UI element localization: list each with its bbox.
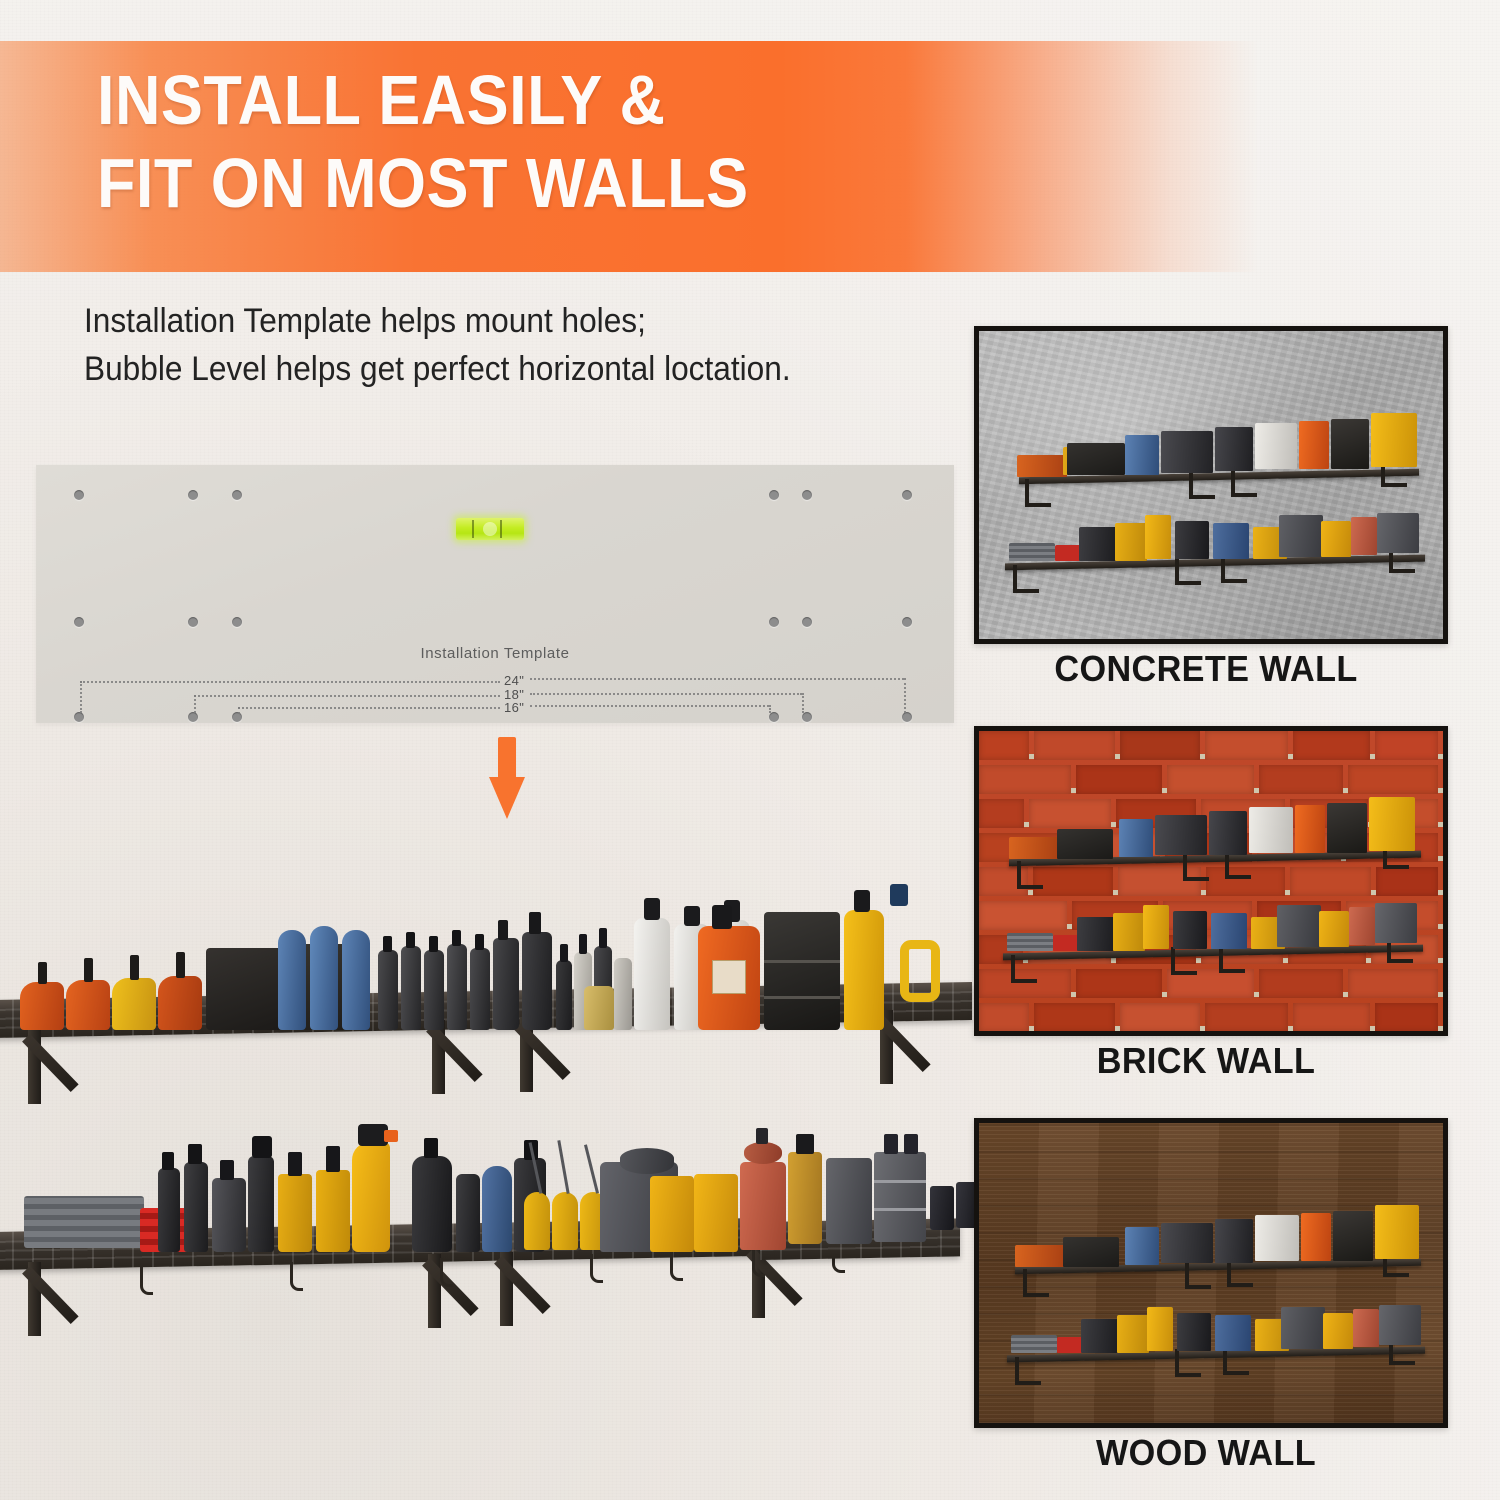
product-storage-bin bbox=[206, 948, 284, 1030]
mini-shelf-bracket bbox=[1189, 471, 1215, 499]
dimension-label-16: 16" bbox=[504, 700, 524, 715]
mini-product bbox=[1009, 837, 1059, 859]
product-black-pot bbox=[930, 1186, 954, 1230]
down-arrow-icon bbox=[489, 737, 525, 819]
mini-product bbox=[1057, 1337, 1083, 1353]
shelf-bracket bbox=[28, 1030, 86, 1104]
product-orange-bottle bbox=[66, 980, 110, 1030]
product-black-jug bbox=[412, 1156, 452, 1252]
dimension-tick-16-left bbox=[238, 707, 240, 714]
mini-product bbox=[1371, 413, 1417, 467]
bottle-cap bbox=[130, 955, 139, 980]
pump-head bbox=[498, 920, 508, 940]
mini-shelf-bracket bbox=[1017, 861, 1043, 889]
mount-hole bbox=[74, 490, 84, 500]
mini-shelf-bracket bbox=[1225, 851, 1251, 879]
mount-hole bbox=[769, 490, 779, 500]
mini-product bbox=[1255, 1215, 1299, 1261]
mini-product bbox=[1113, 913, 1145, 951]
mini-product bbox=[1351, 517, 1377, 555]
concrete-wall-label: CONCRETE WALL bbox=[986, 648, 1427, 690]
mini-product bbox=[1375, 903, 1417, 943]
mini-product bbox=[1295, 805, 1325, 853]
pump-head bbox=[529, 912, 541, 934]
mini-product bbox=[1117, 1315, 1149, 1353]
mini-product bbox=[1119, 819, 1153, 857]
shelf-bracket bbox=[28, 1262, 86, 1336]
dimension-tick-18-left bbox=[194, 695, 196, 713]
mount-hole bbox=[769, 617, 779, 627]
case-divider bbox=[764, 996, 840, 999]
mini-product bbox=[1175, 521, 1209, 559]
mini-shelf-bracket bbox=[1023, 1269, 1049, 1297]
brick-row bbox=[979, 969, 1443, 998]
mini-product bbox=[1319, 911, 1349, 947]
mini-product bbox=[1349, 907, 1375, 945]
mini-shelf-bracket bbox=[1223, 1347, 1249, 1375]
bottle-cap bbox=[84, 958, 93, 982]
crate-handle bbox=[884, 1134, 898, 1154]
product-red-bucket bbox=[740, 1162, 786, 1250]
subtitle-block: Installation Template helps mount holes;… bbox=[84, 297, 930, 393]
installation-template-label: Installation Template bbox=[36, 645, 954, 662]
header-banner: INSTALL EASILY & FIT ON MOST WALLS bbox=[0, 41, 1258, 272]
product-yellow-oiler-can bbox=[524, 1192, 550, 1250]
shelf-hook[interactable] bbox=[290, 1262, 303, 1291]
mini-product bbox=[1277, 905, 1321, 947]
header-text-block: INSTALL EASILY & FIT ON MOST WALLS bbox=[97, 59, 1258, 225]
bottle-cap bbox=[644, 898, 660, 920]
dimension-line-16-right bbox=[530, 705, 769, 707]
mini-shelf-bracket bbox=[1025, 479, 1051, 507]
bottle-cap bbox=[288, 1152, 302, 1176]
mini-product bbox=[1209, 811, 1247, 855]
mini-product bbox=[1369, 797, 1415, 851]
mini-shelf-bracket bbox=[1219, 945, 1245, 973]
mini-product bbox=[1177, 1313, 1211, 1351]
mount-hole bbox=[902, 617, 912, 627]
jug-cap bbox=[890, 884, 908, 906]
dimension-line-24-right bbox=[530, 678, 904, 680]
shelf-hook[interactable] bbox=[440, 1258, 453, 1287]
product-dark-bottle bbox=[447, 944, 467, 1030]
mount-hole bbox=[802, 490, 812, 500]
product-dark-bottle bbox=[424, 950, 444, 1030]
product-tool-case bbox=[764, 912, 840, 1030]
mini-product bbox=[1067, 443, 1125, 475]
mini-product bbox=[1143, 905, 1169, 949]
mini-product bbox=[1055, 545, 1081, 561]
bottle-cap bbox=[452, 930, 461, 946]
product-white-bottle bbox=[634, 918, 670, 1030]
mount-hole bbox=[74, 712, 84, 722]
jug-cap bbox=[424, 1138, 438, 1158]
mini-product bbox=[1063, 1237, 1119, 1267]
bottle-cap bbox=[684, 906, 700, 926]
mini-product bbox=[1015, 1245, 1065, 1267]
product-dark-pump-bottle bbox=[522, 932, 552, 1030]
crate-bar bbox=[874, 1208, 926, 1211]
product-yellow-fluid-bottle bbox=[278, 1174, 312, 1252]
product-grey-pot bbox=[620, 1148, 674, 1174]
product-yellow-bucket bbox=[694, 1174, 738, 1252]
mount-hole bbox=[74, 617, 84, 627]
product-dark-spray-bottle bbox=[158, 1168, 180, 1252]
product-orange-bottle bbox=[158, 976, 202, 1030]
mini-product bbox=[1081, 1319, 1121, 1353]
mount-hole bbox=[188, 490, 198, 500]
brick-row bbox=[979, 867, 1443, 896]
dimension-line-18 bbox=[194, 695, 500, 697]
jug-cap bbox=[854, 890, 870, 912]
mini-product bbox=[1009, 543, 1055, 561]
headline-line-1: INSTALL EASILY & bbox=[97, 59, 1142, 142]
shelf-bracket bbox=[500, 1252, 558, 1326]
product-yellow-oiler-can bbox=[552, 1192, 578, 1250]
dimension-tick-18-right bbox=[802, 693, 804, 713]
product-grey-bin bbox=[826, 1158, 872, 1244]
bottle-cap bbox=[383, 936, 392, 952]
mini-product bbox=[1377, 513, 1419, 553]
shelf-hook[interactable] bbox=[140, 1266, 153, 1295]
mini-product bbox=[1057, 829, 1113, 859]
jug-handle bbox=[900, 940, 940, 1002]
mini-product bbox=[1155, 815, 1207, 855]
mini-product bbox=[1321, 521, 1351, 557]
bottle-cap bbox=[326, 1146, 340, 1172]
product-yellow-bottle bbox=[112, 978, 156, 1030]
mini-shelf-bracket bbox=[1175, 1349, 1201, 1377]
oiler-spout bbox=[557, 1140, 569, 1194]
trigger-head bbox=[188, 1144, 202, 1164]
mount-hole bbox=[188, 712, 198, 722]
headline-line-2: FIT ON MOST WALLS bbox=[97, 142, 1142, 225]
mini-shelf-bracket bbox=[1221, 555, 1247, 583]
subtitle-line-1: Installation Template helps mount holes; bbox=[84, 297, 930, 345]
dimension-label-24: 24" bbox=[504, 673, 524, 688]
shelf-bracket bbox=[428, 1254, 486, 1328]
dimension-line-16 bbox=[238, 707, 500, 709]
bucket-funnel bbox=[744, 1142, 782, 1164]
mini-product bbox=[1215, 1315, 1251, 1351]
mini-product bbox=[1281, 1307, 1325, 1349]
product-yellow-bucket bbox=[650, 1176, 694, 1252]
bottle-cap bbox=[38, 962, 47, 984]
mini-product bbox=[1353, 1309, 1379, 1347]
product-grey-crate bbox=[874, 1152, 926, 1242]
mini-product bbox=[1115, 523, 1147, 561]
mini-shelf-bracket bbox=[1183, 853, 1209, 881]
mini-product bbox=[1053, 935, 1079, 951]
bottle-cap bbox=[176, 952, 185, 978]
brick-row bbox=[979, 731, 1443, 760]
product-blue-spray-bottle bbox=[342, 930, 370, 1030]
mini-product bbox=[1147, 1307, 1173, 1351]
dimension-tick-16-right bbox=[769, 705, 771, 713]
sprayer-nozzle bbox=[384, 1130, 398, 1142]
mini-product bbox=[1017, 455, 1067, 477]
mini-shelf-bracket bbox=[1011, 955, 1037, 983]
mount-hole bbox=[802, 712, 812, 722]
mini-product bbox=[1215, 427, 1253, 471]
mini-product bbox=[1323, 1313, 1353, 1349]
mini-product bbox=[1007, 933, 1053, 951]
mini-shelf-bracket bbox=[1171, 947, 1197, 975]
mini-shelf-bracket bbox=[1013, 565, 1039, 593]
mini-product bbox=[1331, 419, 1369, 469]
mount-hole bbox=[902, 490, 912, 500]
dimension-line-18-right bbox=[530, 693, 802, 695]
product-folded-towels-grey bbox=[24, 1196, 144, 1248]
product-dark-bottle bbox=[456, 1174, 480, 1252]
product-blue-spray-bottle bbox=[278, 930, 306, 1030]
trigger-head bbox=[252, 1136, 272, 1158]
mini-product bbox=[1327, 803, 1367, 853]
bucket-spout bbox=[756, 1128, 768, 1144]
product-dark-pump-bottle bbox=[493, 938, 519, 1030]
subtitle-line-2: Bubble Level helps get perfect horizonta… bbox=[84, 345, 930, 393]
product-grey-canister bbox=[212, 1178, 246, 1252]
mini-shelf-bracket bbox=[1015, 1357, 1041, 1385]
dimension-tick-24-right bbox=[904, 678, 906, 713]
dimension-tick-24-left bbox=[80, 681, 82, 713]
wood-wall-panel bbox=[974, 1118, 1448, 1428]
product-yellow-tin bbox=[584, 986, 614, 1030]
case-divider bbox=[764, 960, 840, 963]
mini-product bbox=[1161, 431, 1213, 473]
product-blue-spray-bottle bbox=[310, 926, 338, 1030]
jug-cap bbox=[712, 905, 732, 929]
mini-product bbox=[1379, 1305, 1421, 1345]
product-small-bottle bbox=[556, 960, 572, 1030]
mini-product bbox=[1125, 435, 1159, 475]
product-tan-canister bbox=[788, 1152, 822, 1244]
shelf-hook[interactable] bbox=[590, 1254, 603, 1283]
product-orange-bottle bbox=[20, 982, 64, 1030]
mount-hole bbox=[232, 617, 242, 627]
mini-product bbox=[1079, 527, 1119, 561]
product-dark-bottle bbox=[378, 950, 398, 1030]
bottle-cap bbox=[406, 932, 415, 948]
mini-product bbox=[1279, 515, 1323, 557]
mini-product bbox=[1301, 1213, 1331, 1261]
mount-hole bbox=[188, 617, 198, 627]
mini-shelf-bracket bbox=[1175, 557, 1201, 585]
product-dark-spray-bottle bbox=[184, 1162, 208, 1252]
mount-hole bbox=[769, 712, 779, 722]
mini-product bbox=[1249, 807, 1293, 853]
mount-hole bbox=[802, 617, 812, 627]
trigger-head bbox=[162, 1152, 174, 1170]
mini-product bbox=[1125, 1227, 1159, 1265]
bottle-cap bbox=[560, 944, 568, 962]
mini-product bbox=[1077, 917, 1117, 951]
mini-product bbox=[1333, 1211, 1373, 1261]
crate-handle bbox=[904, 1134, 918, 1154]
installation-template-panel: 24" 18" 16" bbox=[36, 465, 954, 723]
wood-wall-label: WOOD WALL bbox=[986, 1432, 1427, 1474]
mini-shelf-bracket bbox=[1231, 469, 1257, 497]
product-dark-bottle bbox=[401, 946, 421, 1030]
jug-label bbox=[712, 960, 746, 994]
mini-product bbox=[1145, 515, 1171, 559]
mini-product bbox=[1215, 1219, 1253, 1263]
mini-product bbox=[1161, 1223, 1213, 1263]
mini-shelf-bracket bbox=[1185, 1261, 1211, 1289]
dimension-line-24 bbox=[80, 681, 500, 683]
crate-bar bbox=[874, 1180, 926, 1183]
bottle-cap bbox=[579, 934, 587, 954]
concrete-wall-panel bbox=[974, 326, 1448, 644]
bottle-cap bbox=[599, 928, 607, 948]
brick-wall-panel bbox=[974, 726, 1448, 1036]
product-yellow-trigger-sprayer bbox=[352, 1142, 390, 1252]
bubble-level-icon bbox=[456, 518, 524, 540]
product-yellow-fluid-bottle bbox=[316, 1170, 350, 1252]
shelf-bracket bbox=[432, 1020, 490, 1094]
mount-hole bbox=[232, 712, 242, 722]
brick-row bbox=[979, 1003, 1443, 1032]
shelf-hook[interactable] bbox=[670, 1252, 683, 1281]
shelf-bracket bbox=[880, 1010, 938, 1084]
product-dark-bottle bbox=[470, 948, 490, 1030]
mini-product bbox=[1173, 911, 1207, 949]
mini-product bbox=[1011, 1335, 1057, 1353]
product-motor-oil-jug bbox=[844, 910, 884, 1030]
brick-wall-label: BRICK WALL bbox=[986, 1040, 1427, 1082]
mini-product bbox=[1255, 423, 1297, 469]
mini-product bbox=[1299, 421, 1329, 469]
mini-shelf-bracket bbox=[1227, 1259, 1253, 1287]
product-dark-spray-bottle bbox=[248, 1156, 274, 1252]
canister-cap bbox=[220, 1160, 234, 1180]
brick-row bbox=[979, 765, 1443, 794]
product-blue-funnel-bottle bbox=[482, 1166, 512, 1252]
mount-hole bbox=[232, 490, 242, 500]
canister-cap bbox=[796, 1134, 814, 1154]
mini-product bbox=[1211, 913, 1247, 949]
infographic-root: INSTALL EASILY & FIT ON MOST WALLS Insta… bbox=[0, 0, 1500, 1500]
mini-product bbox=[1213, 523, 1249, 559]
mount-hole bbox=[902, 712, 912, 722]
mini-product bbox=[1375, 1205, 1419, 1259]
bottle-cap bbox=[429, 936, 438, 952]
oiler-spout bbox=[584, 1144, 599, 1193]
product-small-bottle bbox=[614, 958, 632, 1030]
bottle-cap bbox=[475, 934, 484, 950]
